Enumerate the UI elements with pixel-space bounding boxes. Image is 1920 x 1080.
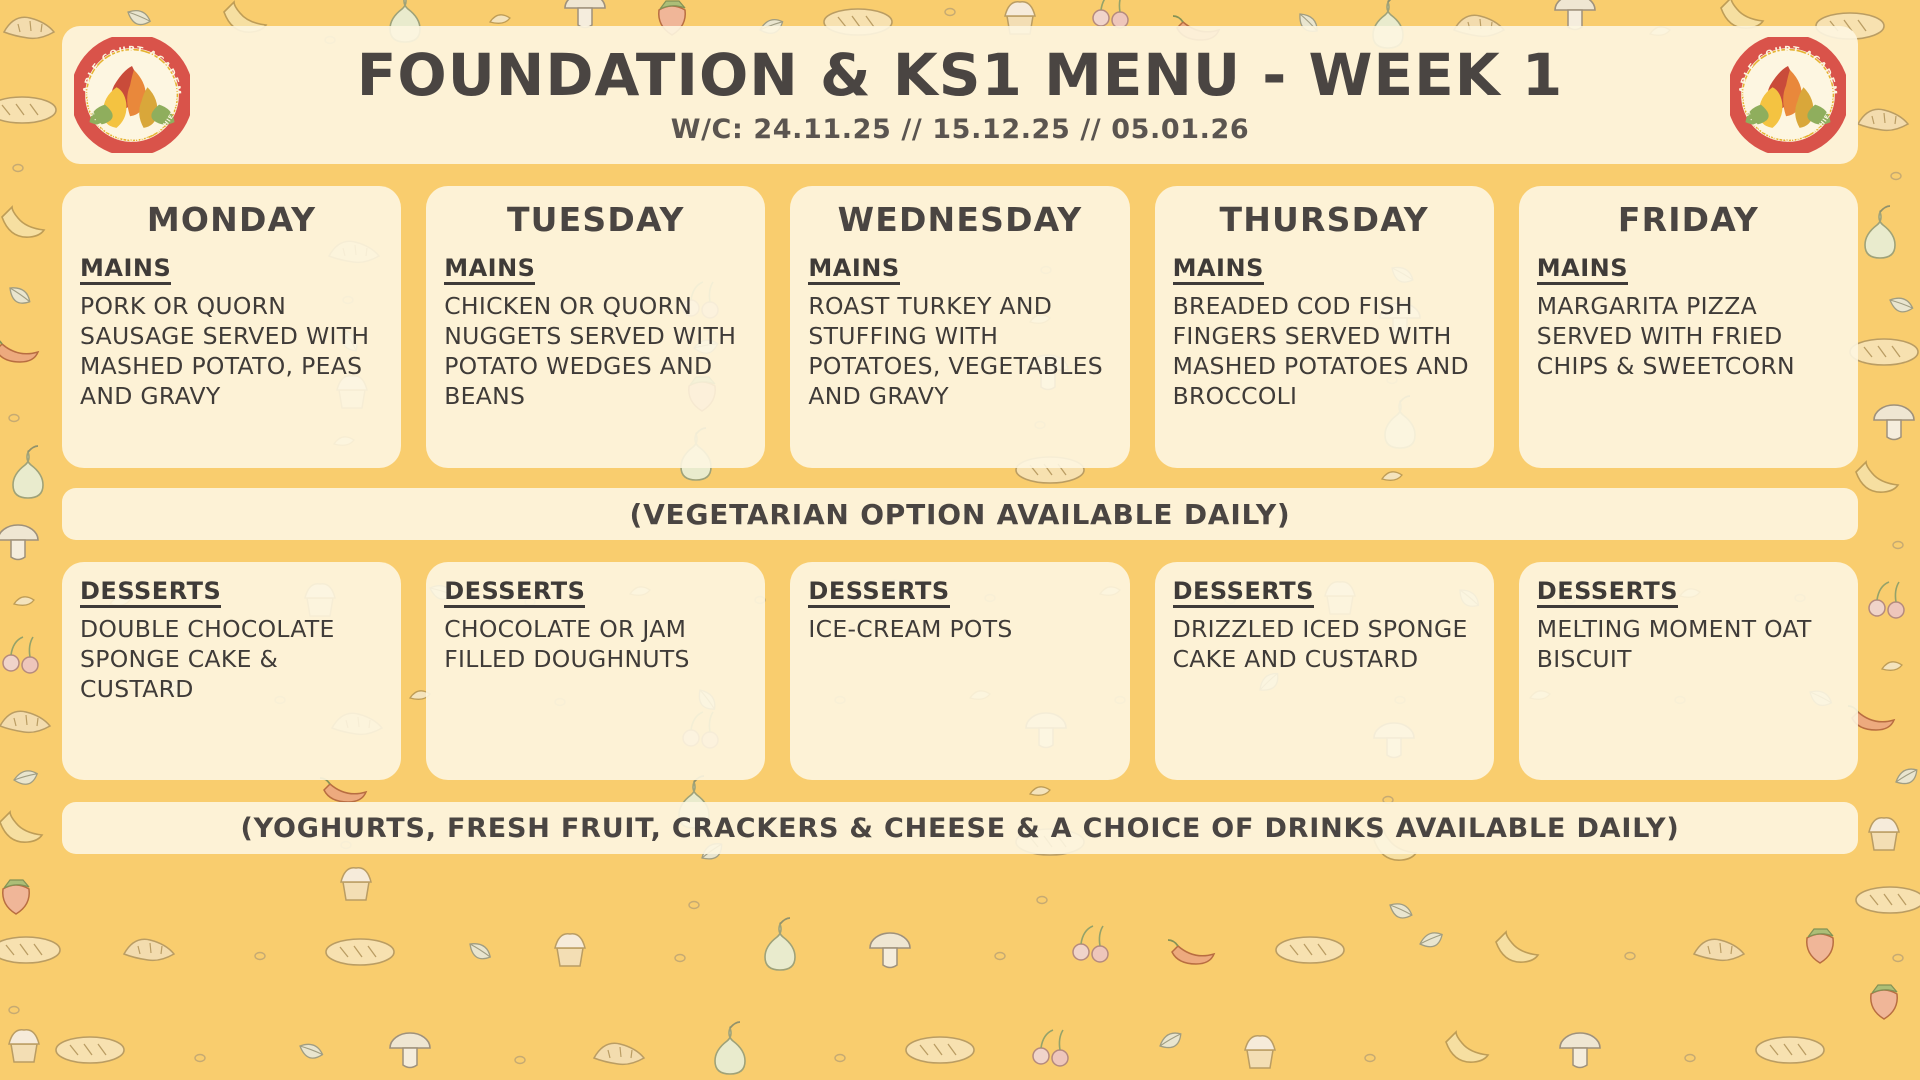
extras-banner-text: (YOGHURTS, FRESH FRUIT, CRACKERS & CHEES… (240, 813, 1679, 844)
mains-label: MAINS (1173, 255, 1264, 285)
day-card-wednesday: WEDNESDAY MAINS ROAST TURKEY AND STUFFIN… (790, 186, 1129, 468)
dessert-text: MELTING MOMENT OAT BISCUIT (1537, 615, 1840, 675)
page-title: FOUNDATION & KS1 MENU - WEEK 1 (357, 45, 1563, 106)
mains-label: MAINS (444, 255, 535, 285)
maple-court-academy-logo: MAPLE COURT ACADEMY ENCOURAGING · ASPIRA… (74, 37, 190, 153)
card-spacer (1537, 382, 1840, 456)
dessert-text: DRIZZLED ICED SPONGE CAKE AND CUSTARD (1173, 615, 1476, 675)
card-spacer (808, 412, 1111, 456)
mains-label: MAINS (808, 255, 899, 285)
day-card-monday: MONDAY MAINS PORK OR QUORN SAUSAGE SERVE… (62, 186, 401, 468)
dessert-card-friday: DESSERTS MELTING MOMENT OAT BISCUIT (1519, 562, 1858, 780)
mains-text: PORK OR QUORN SAUSAGE SERVED WITH MASHED… (80, 292, 383, 411)
extras-banner: (YOGHURTS, FRESH FRUIT, CRACKERS & CHEES… (62, 802, 1858, 854)
card-spacer (1173, 675, 1476, 768)
dessert-card-wednesday: DESSERTS ICE-CREAM POTS (790, 562, 1129, 780)
desserts-label: DESSERTS (80, 578, 221, 608)
dessert-text: ICE-CREAM POTS (808, 615, 1111, 645)
dessert-card-thursday: DESSERTS DRIZZLED ICED SPONGE CAKE AND C… (1155, 562, 1494, 780)
mains-text: MARGARITA PIZZA SERVED WITH FRIED CHIPS … (1537, 292, 1840, 382)
day-card-friday: FRIDAY MAINS MARGARITA PIZZA SERVED WITH… (1519, 186, 1858, 468)
header-subtitle: W/C: 24.11.25 // 15.12.25 // 05.01.26 (671, 114, 1250, 145)
day-card-thursday: THURSDAY MAINS BREADED COD FISH FINGERS … (1155, 186, 1494, 468)
mains-text: CHICKEN OR QUORN NUGGETS SERVED WITH POT… (444, 292, 747, 411)
day-name: MONDAY (80, 200, 383, 239)
card-spacer (444, 675, 747, 768)
desserts-label: DESSERTS (1537, 578, 1678, 608)
mains-text: ROAST TURKEY AND STUFFING WITH POTATOES,… (808, 292, 1111, 411)
card-spacer (808, 645, 1111, 768)
day-name: TUESDAY (444, 200, 747, 239)
maple-court-academy-logo: MAPLE COURT ACADEMY ENCOURAGING · ASPIRA… (1730, 37, 1846, 153)
menu-poster: MAPLE COURT ACADEMY ENCOURAGING · ASPIRA… (0, 0, 1920, 1080)
vegetarian-banner-text: (VEGETARIAN OPTION AVAILABLE DAILY) (629, 498, 1290, 531)
day-name: FRIDAY (1537, 200, 1840, 239)
card-spacer (80, 412, 383, 456)
card-spacer (444, 412, 747, 456)
dessert-card-monday: DESSERTS DOUBLE CHOCOLATE SPONGE CAKE & … (62, 562, 401, 780)
mains-row: MONDAY MAINS PORK OR QUORN SAUSAGE SERVE… (62, 186, 1858, 468)
card-spacer (1173, 412, 1476, 456)
day-name: THURSDAY (1173, 200, 1476, 239)
vegetarian-banner: (VEGETARIAN OPTION AVAILABLE DAILY) (62, 488, 1858, 540)
desserts-label: DESSERTS (808, 578, 949, 608)
card-spacer (80, 705, 383, 768)
mains-label: MAINS (80, 255, 171, 285)
desserts-label: DESSERTS (444, 578, 585, 608)
dessert-card-tuesday: DESSERTS CHOCOLATE OR JAM FILLED DOUGHNU… (426, 562, 765, 780)
card-spacer (1537, 675, 1840, 768)
dessert-text: DOUBLE CHOCOLATE SPONGE CAKE & CUSTARD (80, 615, 383, 705)
header-banner: MAPLE COURT ACADEMY ENCOURAGING · ASPIRA… (62, 26, 1858, 164)
mains-text: BREADED COD FISH FINGERS SERVED WITH MAS… (1173, 292, 1476, 411)
day-card-tuesday: TUESDAY MAINS CHICKEN OR QUORN NUGGETS S… (426, 186, 765, 468)
mains-label: MAINS (1537, 255, 1628, 285)
day-name: WEDNESDAY (808, 200, 1111, 239)
desserts-label: DESSERTS (1173, 578, 1314, 608)
desserts-row: DESSERTS DOUBLE CHOCOLATE SPONGE CAKE & … (62, 562, 1858, 780)
dessert-text: CHOCOLATE OR JAM FILLED DOUGHNUTS (444, 615, 747, 675)
